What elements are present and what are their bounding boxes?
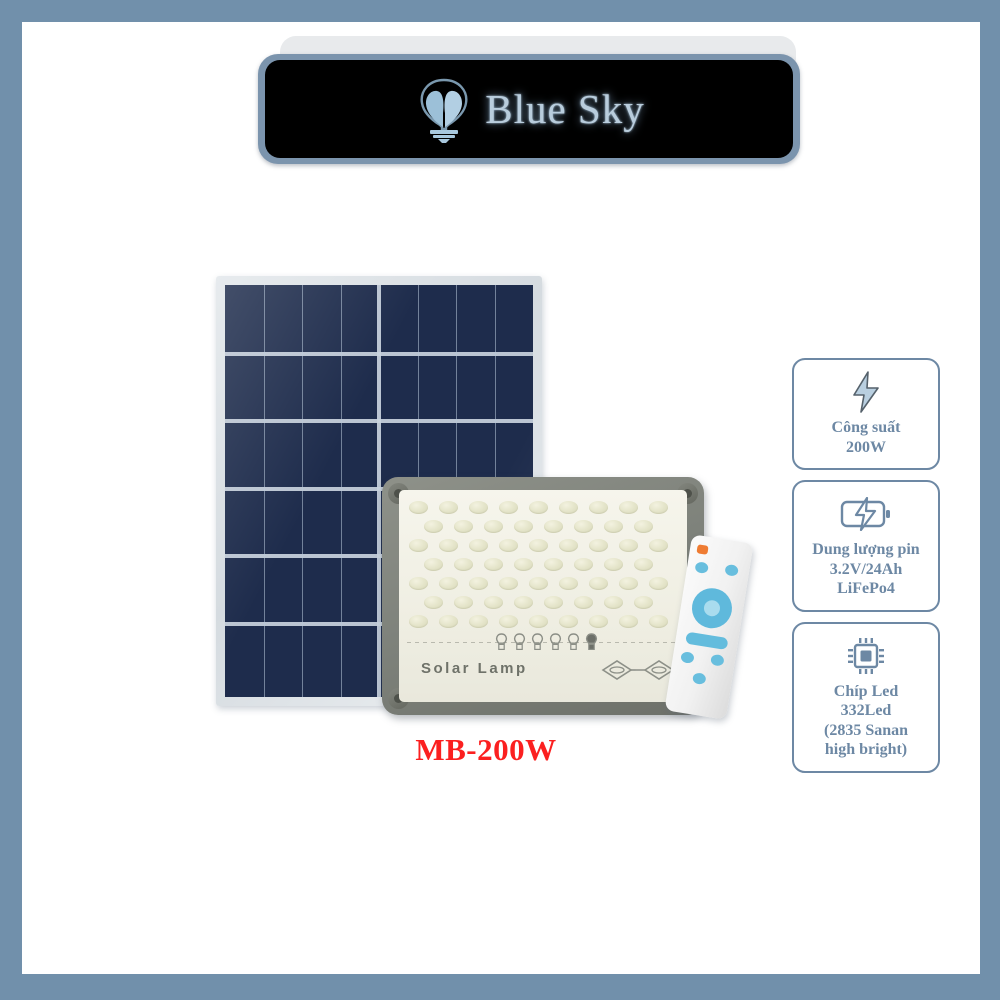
led-chip	[589, 577, 608, 590]
led-chip	[634, 520, 653, 533]
led-chip	[619, 539, 638, 552]
led-chip	[634, 596, 653, 609]
spec-badge-battery: Dung lượng pin 3.2V/24Ah LiFePo4	[792, 480, 940, 612]
product-image-root: Blue Sky	[0, 0, 1000, 1000]
led-chip	[424, 520, 443, 533]
spec-line: high bright)	[800, 740, 932, 760]
led-chip	[574, 520, 593, 533]
brand-lockup: Blue Sky	[413, 75, 645, 143]
led-chip	[454, 520, 473, 533]
led-chip	[499, 501, 518, 514]
led-chip	[604, 558, 623, 571]
spec-badge-battery-text: Dung lượng pin 3.2V/24Ah LiFePo4	[800, 540, 932, 599]
led-chip	[544, 596, 563, 609]
lamp-face: Solar Lamp	[399, 490, 687, 702]
panel-gridline	[225, 352, 533, 356]
led-chip	[619, 615, 638, 628]
led-chip	[439, 501, 458, 514]
led-chip	[529, 615, 548, 628]
led-chip	[589, 501, 608, 514]
led-chip	[454, 596, 473, 609]
led-chip	[454, 558, 473, 571]
spec-line: (2835 Sanan	[800, 721, 932, 741]
panel-gridline	[225, 419, 533, 423]
led-indicator-icon	[513, 633, 526, 651]
led-chip	[574, 558, 593, 571]
remote-button[interactable]	[692, 672, 707, 685]
battery-charging-icon	[800, 492, 932, 536]
led-chip	[649, 539, 668, 552]
led-indicator-icon	[495, 633, 508, 651]
lamp-face-label: Solar Lamp	[421, 660, 528, 677]
led-chip	[469, 615, 488, 628]
brand-banner: Blue Sky	[258, 36, 806, 164]
led-chip	[439, 539, 458, 552]
led-chip	[409, 577, 428, 590]
led-chip	[544, 558, 563, 571]
led-chip	[559, 577, 578, 590]
led-indicator-icon	[531, 633, 544, 651]
led-chip	[634, 558, 653, 571]
led-chip	[649, 615, 668, 628]
led-chip	[409, 501, 428, 514]
led-chip	[574, 596, 593, 609]
led-chip	[529, 501, 548, 514]
led-chip	[499, 539, 518, 552]
solar-flood-lamp: Solar Lamp	[382, 477, 704, 715]
panel-gridline	[377, 285, 381, 697]
remote-button[interactable]	[724, 564, 739, 577]
spec-line: Công suất	[800, 418, 932, 438]
remote-button[interactable]	[710, 654, 725, 667]
double-diamond-emblem-icon	[599, 658, 677, 682]
remote-button[interactable]	[680, 651, 695, 664]
led-chip	[559, 501, 578, 514]
spec-badge-list: Công suất 200W Dung lượng pin 3.2V/24Ah …	[792, 358, 940, 783]
led-chip	[529, 539, 548, 552]
led-chip	[589, 539, 608, 552]
remote-mode-button[interactable]	[685, 632, 728, 650]
led-chip	[559, 615, 578, 628]
led-chip	[649, 501, 668, 514]
led-chip	[589, 615, 608, 628]
led-chip	[409, 539, 428, 552]
image-canvas: Blue Sky	[22, 22, 980, 974]
spec-line: Dung lượng pin	[800, 540, 932, 560]
led-chip	[469, 539, 488, 552]
banner-frame: Blue Sky	[258, 54, 800, 164]
spec-line: Chíp Led	[800, 682, 932, 702]
led-chip	[439, 577, 458, 590]
led-chip	[514, 520, 533, 533]
led-chip	[469, 501, 488, 514]
led-indicator-filled-icon	[585, 633, 598, 651]
spec-line: 200W	[800, 438, 932, 458]
cpu-chip-icon	[800, 634, 932, 678]
led-chip	[439, 615, 458, 628]
led-chip	[424, 596, 443, 609]
spec-line: LiFePo4	[800, 579, 932, 599]
led-chip	[499, 577, 518, 590]
led-chip	[484, 558, 503, 571]
spec-line: 332Led	[800, 701, 932, 721]
led-chip	[484, 520, 503, 533]
remote-power-button[interactable]	[696, 544, 708, 555]
led-chip	[619, 501, 638, 514]
led-chip	[514, 596, 533, 609]
led-array	[407, 498, 679, 635]
bulb-leaf-logo-icon	[413, 75, 475, 143]
led-chip	[544, 520, 563, 533]
spec-badge-power-text: Công suất 200W	[800, 418, 932, 457]
led-chip	[604, 596, 623, 609]
led-chip	[604, 520, 623, 533]
banner-inner-panel: Blue Sky	[265, 60, 793, 158]
led-chip	[469, 577, 488, 590]
spec-badge-chip: Chíp Led 332Led (2835 Sanan high bright)	[792, 622, 940, 773]
remote-button[interactable]	[694, 561, 709, 574]
spec-badge-power: Công suất 200W	[792, 358, 940, 470]
led-chip	[499, 615, 518, 628]
led-indicator-icon	[549, 633, 562, 651]
lightning-bolt-icon	[800, 370, 932, 414]
led-chip	[529, 577, 548, 590]
spec-badge-chip-text: Chíp Led 332Led (2835 Sanan high bright)	[800, 682, 932, 760]
led-indicator-icon	[567, 633, 580, 651]
model-label: MB-200W	[386, 732, 586, 768]
led-chip	[409, 615, 428, 628]
led-chip	[649, 577, 668, 590]
brand-name-text: Blue Sky	[485, 85, 645, 133]
led-chip	[484, 596, 503, 609]
led-chip	[424, 558, 443, 571]
spec-line: 3.2V/24Ah	[800, 560, 932, 580]
remote-dial[interactable]	[689, 585, 735, 631]
led-chip	[619, 577, 638, 590]
led-chip	[514, 558, 533, 571]
led-chip	[559, 539, 578, 552]
indicator-icons	[495, 633, 598, 651]
